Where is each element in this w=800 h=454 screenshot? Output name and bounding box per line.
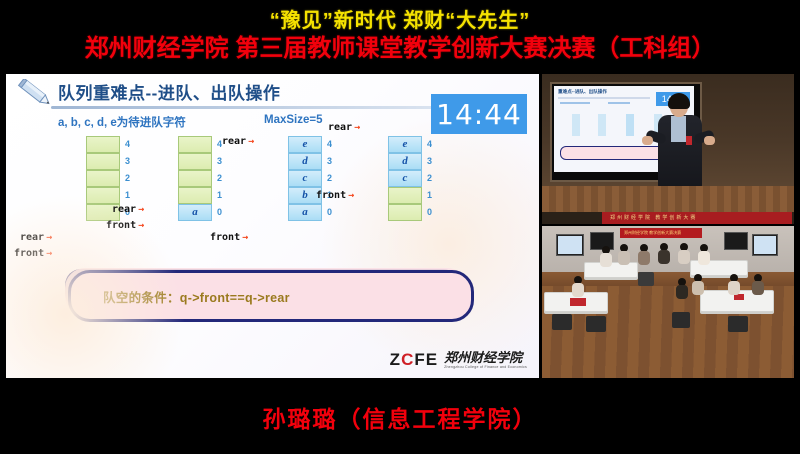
queue-cell: a0 <box>178 204 212 221</box>
broadcast-stage: “豫见”新时代 郑财“大先生” 郑州财经学院 第三届教师课堂教学创新大赛决赛（工… <box>0 0 800 454</box>
banner-line-2: 郑州财经学院 第三届教师课堂教学创新大赛决赛（工科组） <box>85 34 716 64</box>
pointer-label-rear: rear→ <box>112 204 144 215</box>
queue-cell-value: c <box>289 172 321 184</box>
university-logo: ZCFE 郑州财经学院 Zhengzhou College of Finance… <box>390 350 527 370</box>
queue-cell-index: 3 <box>427 156 432 166</box>
podium-front <box>542 186 794 212</box>
queue-cell: e4 <box>388 136 422 153</box>
pointer-label-front: front→ <box>210 232 248 243</box>
pointer-label-front: front→ <box>14 248 52 259</box>
queue-cell-index: 2 <box>427 173 432 183</box>
podium-banner: 郑州财经学院 教学创新大赛 <box>602 212 792 224</box>
queue-cell-value: d <box>389 155 421 167</box>
logo-chinese: 郑州财经学院 Zhengzhou College of Finance and … <box>444 351 527 370</box>
projected-slide-title: 重难点--进队、出队操作 <box>558 89 607 95</box>
wall-monitor-left <box>556 234 584 256</box>
queue-cell-value: e <box>289 138 321 150</box>
chair-3 <box>672 312 690 328</box>
student-3 <box>638 244 650 265</box>
queue-cell: 2 <box>86 170 120 187</box>
caption-bar: 孙璐璐（信息工程学院） <box>0 380 800 454</box>
queue-one-element: 4321a0rear→front→ <box>178 136 212 221</box>
queue-cell: 1 <box>388 187 422 204</box>
subtitle-left: a, b, c, d, e为待进队字符 <box>58 114 186 130</box>
queue-cell-index: 0 <box>327 207 332 217</box>
classroom-video[interactable]: 郑州财经学院 教学创新大赛决赛 <box>542 226 794 378</box>
student-6 <box>698 244 710 265</box>
student-9 <box>692 274 704 295</box>
student-8 <box>676 278 688 299</box>
banner-line-1: “豫见”新时代 郑财“大先生” <box>270 8 531 34</box>
queue-cell-value: d <box>289 155 321 167</box>
queue-cell-index: 4 <box>427 139 432 149</box>
student-1 <box>600 246 612 267</box>
queue-cell: 2 <box>178 170 212 187</box>
logo-mark: ZCFE <box>390 350 438 370</box>
queue-cell: 0 <box>86 204 120 221</box>
queue-cell-value: c <box>389 172 421 184</box>
student-5 <box>678 243 690 264</box>
student-2 <box>618 244 630 265</box>
queue-cell: 1 <box>86 187 120 204</box>
queue-after-dequeue: e4d3c210rear→front→ <box>388 136 422 221</box>
queue-cell-value: a <box>289 206 321 218</box>
queue-cell: 0 <box>388 204 422 221</box>
presenter-caption: 孙璐璐（信息工程学院） <box>263 400 538 434</box>
logo-cn-sub: Zhengzhou College of Finance and Economi… <box>444 366 527 370</box>
logo-cn-name: 郑州财经学院 <box>444 351 527 364</box>
queue-cell-index: 1 <box>217 190 222 200</box>
podium-banner-text: 郑州财经学院 教学创新大赛 <box>610 214 697 221</box>
queue-cell-index: 4 <box>125 139 130 149</box>
pointer-label-rear: rear→ <box>222 136 254 147</box>
queue-cell: a0 <box>288 204 322 221</box>
queue-cell: 4 <box>86 136 120 153</box>
callout-box: 队空的条件：q->front==q->rear <box>68 270 474 322</box>
pencil-icon <box>16 79 56 109</box>
queue-cell: e4 <box>288 136 322 153</box>
pointer-label-rear: rear→ <box>328 122 360 133</box>
slide-title: 队列重难点--进队、出队操作 <box>58 79 280 104</box>
student-4 <box>658 243 670 264</box>
queue-cell: 1 <box>178 187 212 204</box>
slide-panel[interactable]: 队列重难点--进队、出队操作 a, b, c, d, e为待进队字符 MaxSi… <box>6 74 539 378</box>
queue-cell-index: 0 <box>217 207 222 217</box>
queue-cell-index: 1 <box>125 190 130 200</box>
queue-cell-index: 1 <box>427 190 432 200</box>
queue-cell: 3 <box>178 153 212 170</box>
chair-1 <box>552 314 572 330</box>
queue-cell: c2 <box>388 170 422 187</box>
presenter-figure <box>654 96 706 186</box>
countdown-timer: 14:44 <box>431 94 527 134</box>
queue-cell-index: 0 <box>427 207 432 217</box>
subtitle-right: MaxSize=5 <box>264 114 323 126</box>
chair-2 <box>586 316 606 332</box>
queue-cell-index: 2 <box>125 173 130 183</box>
queue-cell-value: a <box>179 206 211 218</box>
queue-cell-index: 3 <box>327 156 332 166</box>
wall-banner: 郑州财经学院 教学创新大赛决赛 <box>620 228 702 238</box>
queue-full: e4d3c2b1a0rear→front→ <box>288 136 322 221</box>
wall-monitor-right <box>752 234 778 256</box>
title-banner: “豫见”新时代 郑财“大先生” 郑州财经学院 第三届教师课堂教学创新大赛决赛（工… <box>0 0 800 72</box>
pointer-label-rear: rear→ <box>20 232 52 243</box>
queue-cell: 3 <box>86 153 120 170</box>
student-10 <box>728 274 740 295</box>
queue-cell: d3 <box>288 153 322 170</box>
queue-cell-index: 4 <box>327 139 332 149</box>
queue-cell-value: e <box>389 138 421 150</box>
queue-empty: 43210rear→front→ <box>86 136 120 221</box>
queue-cell-index: 2 <box>327 173 332 183</box>
queue-cell: d3 <box>388 153 422 170</box>
queue-cell: c2 <box>288 170 322 187</box>
name-card-left <box>570 298 586 306</box>
chair-4 <box>728 316 748 332</box>
pointer-label-front: front→ <box>106 220 144 231</box>
queue-cell-index: 3 <box>217 156 222 166</box>
pointer-label-front: front→ <box>316 190 354 201</box>
student-7 <box>572 276 584 297</box>
wall-banner-text: 郑州财经学院 教学创新大赛决赛 <box>624 230 681 236</box>
chair-5 <box>638 272 654 286</box>
title-underline <box>51 106 471 109</box>
queue-cell-index: 3 <box>125 156 130 166</box>
wall-monitor-right2 <box>724 232 748 250</box>
queue-diagrams: 43210rear→front→4321a0rear→front→e4d3c2b… <box>6 136 539 256</box>
presenter-video[interactable]: 重难点--进队、出队操作 14:44 <box>542 74 794 224</box>
callout-text: 队空的条件：q->front==q->rear <box>103 287 290 306</box>
queue-cell-index: 2 <box>217 173 222 183</box>
student-11 <box>752 274 764 295</box>
queue-cell: 4 <box>178 136 212 153</box>
